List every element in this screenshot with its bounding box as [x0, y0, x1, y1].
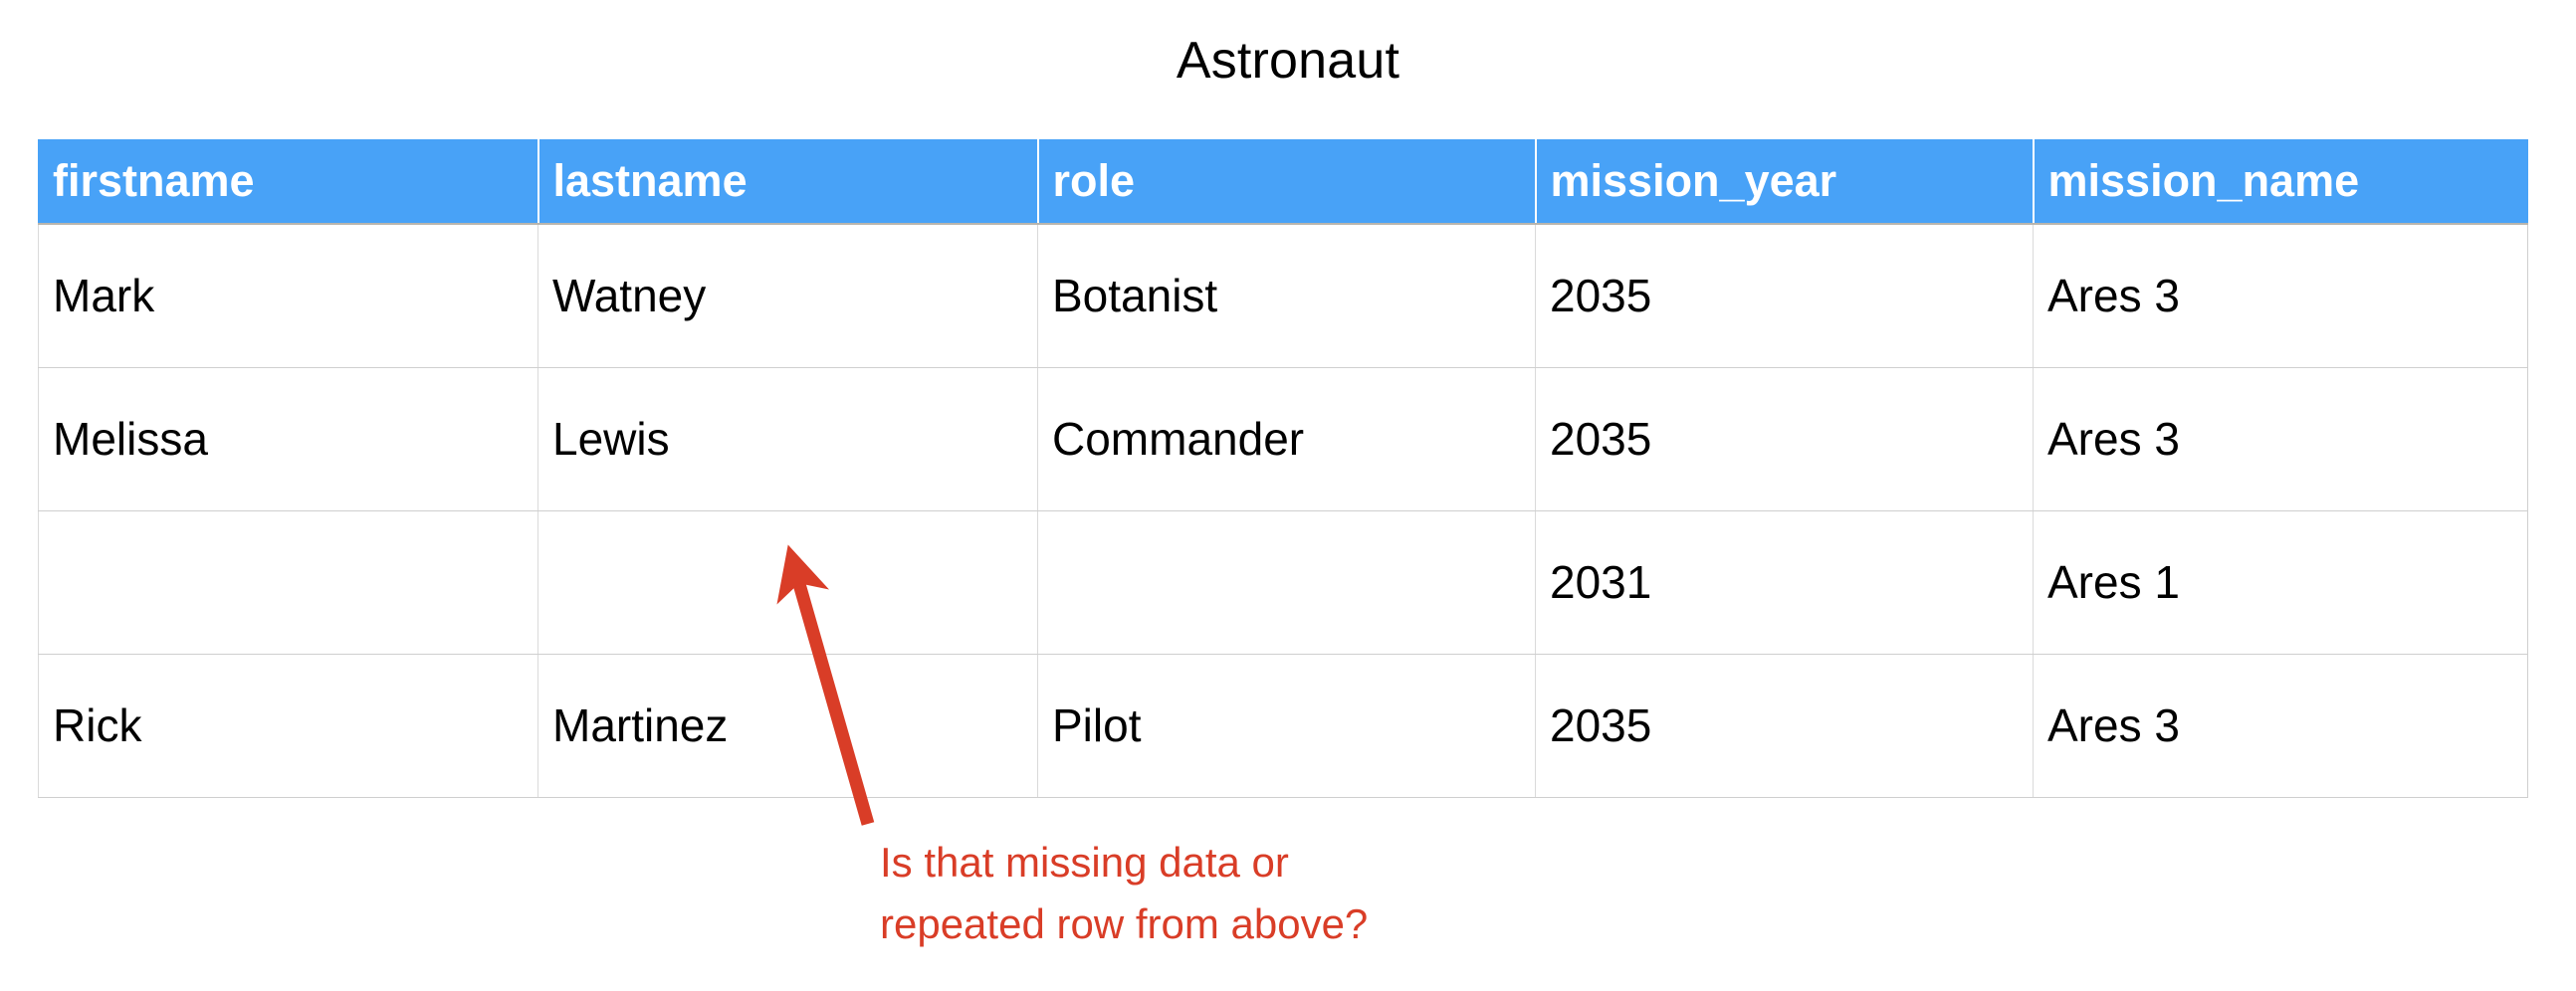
- cell-lastname: Watney: [538, 224, 1038, 367]
- cell-mission-year: 2035: [1536, 224, 2034, 367]
- cell-mission-name: Ares 1: [2034, 510, 2528, 654]
- cell-mission-year: 2031: [1536, 510, 2034, 654]
- annotation-note: Is that missing data or repeated row fro…: [880, 832, 1368, 955]
- cell-firstname: Melissa: [39, 367, 538, 510]
- cell-lastname-empty: [538, 510, 1038, 654]
- column-header-role[interactable]: role: [1038, 139, 1536, 224]
- astronaut-table-wrapper: firstname lastname role mission_year mis…: [38, 139, 2527, 798]
- cell-mission-year: 2035: [1536, 367, 2034, 510]
- table-body: Mark Watney Botanist 2035 Ares 3 Melissa…: [39, 224, 2528, 797]
- cell-lastname: Martinez: [538, 654, 1038, 797]
- page-title: Astronaut: [0, 30, 2576, 92]
- cell-mission-year: 2035: [1536, 654, 2034, 797]
- cell-firstname-empty: [39, 510, 538, 654]
- cell-role-empty: [1038, 510, 1536, 654]
- table-row-missing-values: 2031 Ares 1: [39, 510, 2528, 654]
- cell-lastname: Lewis: [538, 367, 1038, 510]
- cell-role: Botanist: [1038, 224, 1536, 367]
- cell-role: Commander: [1038, 367, 1536, 510]
- cell-firstname: Mark: [39, 224, 538, 367]
- cell-mission-name: Ares 3: [2034, 224, 2528, 367]
- astronaut-table: firstname lastname role mission_year mis…: [38, 139, 2528, 798]
- column-header-mission-year[interactable]: mission_year: [1536, 139, 2034, 224]
- table-row: Rick Martinez Pilot 2035 Ares 3: [39, 654, 2528, 797]
- table-header: firstname lastname role mission_year mis…: [39, 139, 2528, 224]
- table-row: Melissa Lewis Commander 2035 Ares 3: [39, 367, 2528, 510]
- column-header-mission-name[interactable]: mission_name: [2034, 139, 2528, 224]
- cell-firstname: Rick: [39, 654, 538, 797]
- cell-role: Pilot: [1038, 654, 1536, 797]
- column-header-firstname[interactable]: firstname: [39, 139, 538, 224]
- cell-mission-name: Ares 3: [2034, 654, 2528, 797]
- table-row: Mark Watney Botanist 2035 Ares 3: [39, 224, 2528, 367]
- table-header-row: firstname lastname role mission_year mis…: [39, 139, 2528, 224]
- column-header-lastname[interactable]: lastname: [538, 139, 1038, 224]
- cell-mission-name: Ares 3: [2034, 367, 2528, 510]
- screenshot-canvas: Astronaut firstname lastname role missio…: [0, 0, 2576, 991]
